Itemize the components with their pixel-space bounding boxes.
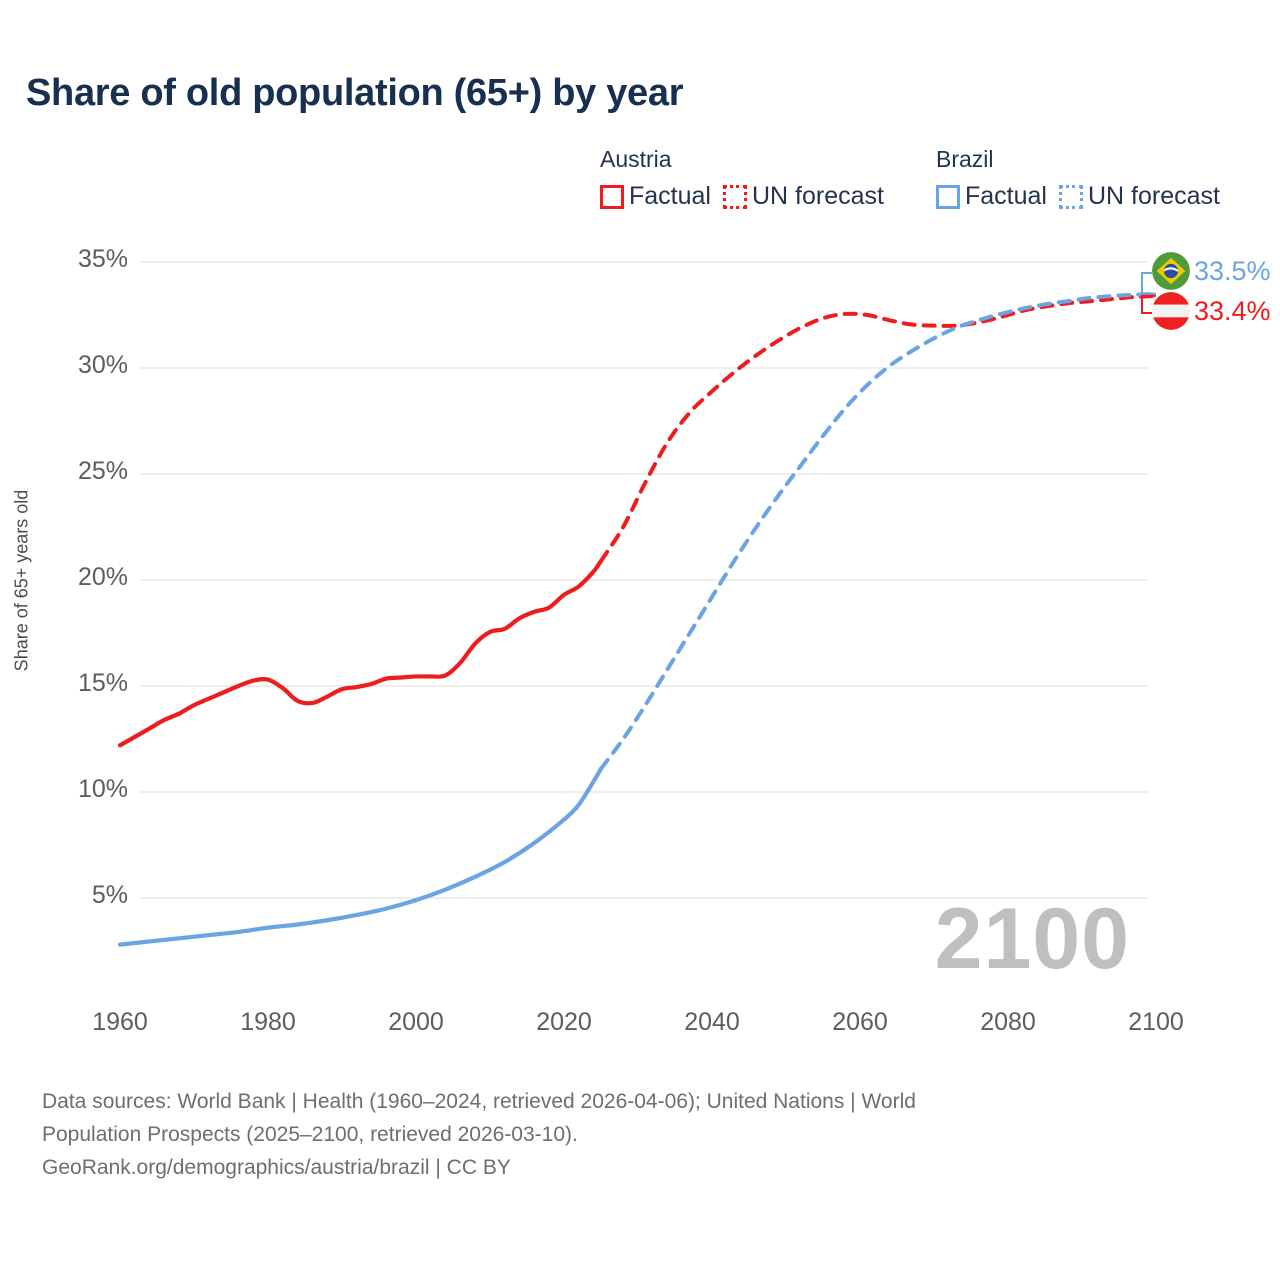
gridlines bbox=[140, 262, 1148, 898]
x-tick-label: 2100 bbox=[1096, 1008, 1216, 1037]
y-tick-label: 15% bbox=[38, 669, 128, 698]
endpoint-value-brazil: 33.5% bbox=[1194, 256, 1271, 287]
y-tick-label: 10% bbox=[38, 775, 128, 804]
series-lines bbox=[120, 294, 1156, 945]
y-axis-title: Share of 65+ years old bbox=[12, 301, 33, 861]
brazil-flag-icon bbox=[1152, 252, 1190, 290]
watermark-year: 2100 bbox=[935, 890, 1130, 989]
footer-sources: Data sources: World Bank | Health (1960–… bbox=[42, 1085, 1192, 1184]
y-tick-label: 30% bbox=[38, 351, 128, 380]
y-tick-label: 25% bbox=[38, 457, 128, 486]
y-tick-label: 20% bbox=[38, 563, 128, 592]
y-tick-label: 5% bbox=[38, 881, 128, 910]
x-tick-label: 2080 bbox=[948, 1008, 1068, 1037]
x-tick-label: 1980 bbox=[208, 1008, 328, 1037]
series-line-brazil-forecast bbox=[601, 294, 1156, 769]
footer-line-2: Population Prospects (2025–2100, retriev… bbox=[42, 1118, 1192, 1151]
series-line-austria-factual bbox=[120, 561, 601, 745]
series-line-austria-forecast bbox=[601, 296, 1156, 561]
series-line-brazil-factual bbox=[120, 769, 601, 945]
x-tick-label: 2060 bbox=[800, 1008, 920, 1037]
endpoint-callout-austria: 33.4% bbox=[1152, 292, 1271, 330]
x-tick-label: 2020 bbox=[504, 1008, 624, 1037]
footer-line-1: Data sources: World Bank | Health (1960–… bbox=[42, 1085, 1192, 1118]
x-tick-label: 2040 bbox=[652, 1008, 772, 1037]
austria-flag-icon bbox=[1152, 292, 1190, 330]
chart-container: Share of old population (65+) by year Au… bbox=[0, 0, 1280, 1280]
x-tick-label: 1960 bbox=[60, 1008, 180, 1037]
endpoint-callout-brazil: 33.5% bbox=[1152, 252, 1271, 290]
footer-line-3: GeoRank.org/demographics/austria/brazil … bbox=[42, 1151, 1192, 1184]
y-tick-label: 35% bbox=[38, 245, 128, 274]
x-tick-label: 2000 bbox=[356, 1008, 476, 1037]
endpoint-value-austria: 33.4% bbox=[1194, 296, 1271, 327]
